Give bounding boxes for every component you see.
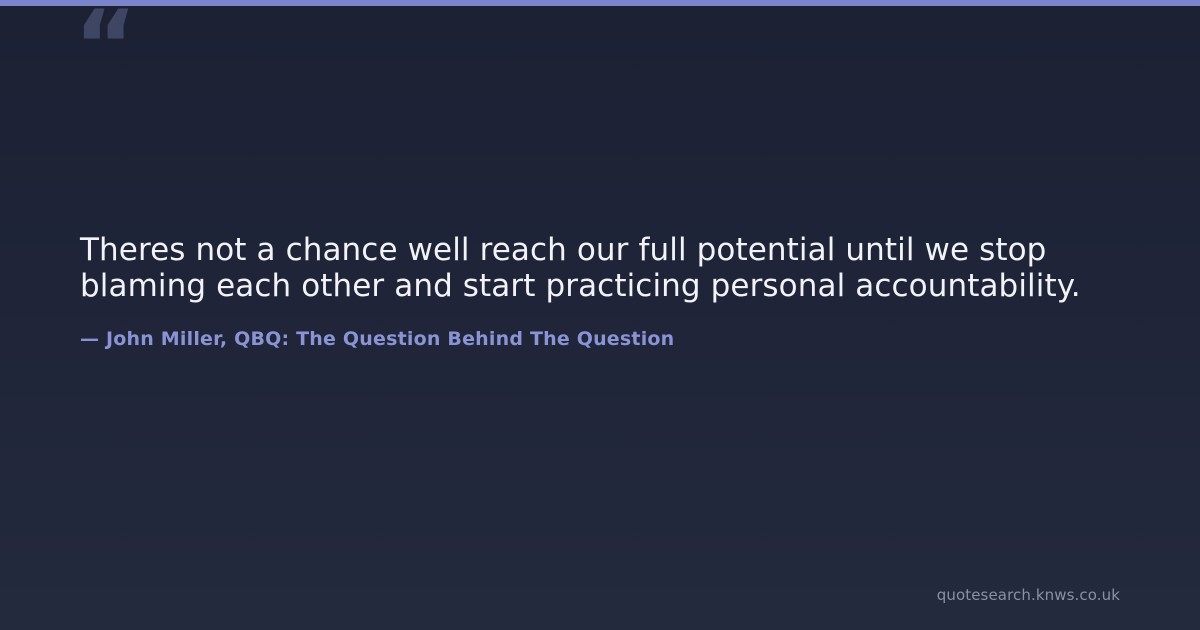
quote-text: Theres not a chance well reach our full … (80, 232, 1120, 304)
site-watermark: quotesearch.knws.co.uk (937, 586, 1120, 604)
quote-content: Theres not a chance well reach our full … (80, 232, 1124, 351)
quote-attribution: — John Miller, QBQ: The Question Behind … (80, 304, 1124, 351)
quote-card: “ Theres not a chance well reach our ful… (0, 0, 1200, 630)
open-quote-icon: “ (74, 0, 135, 94)
top-accent-bar (0, 0, 1200, 6)
